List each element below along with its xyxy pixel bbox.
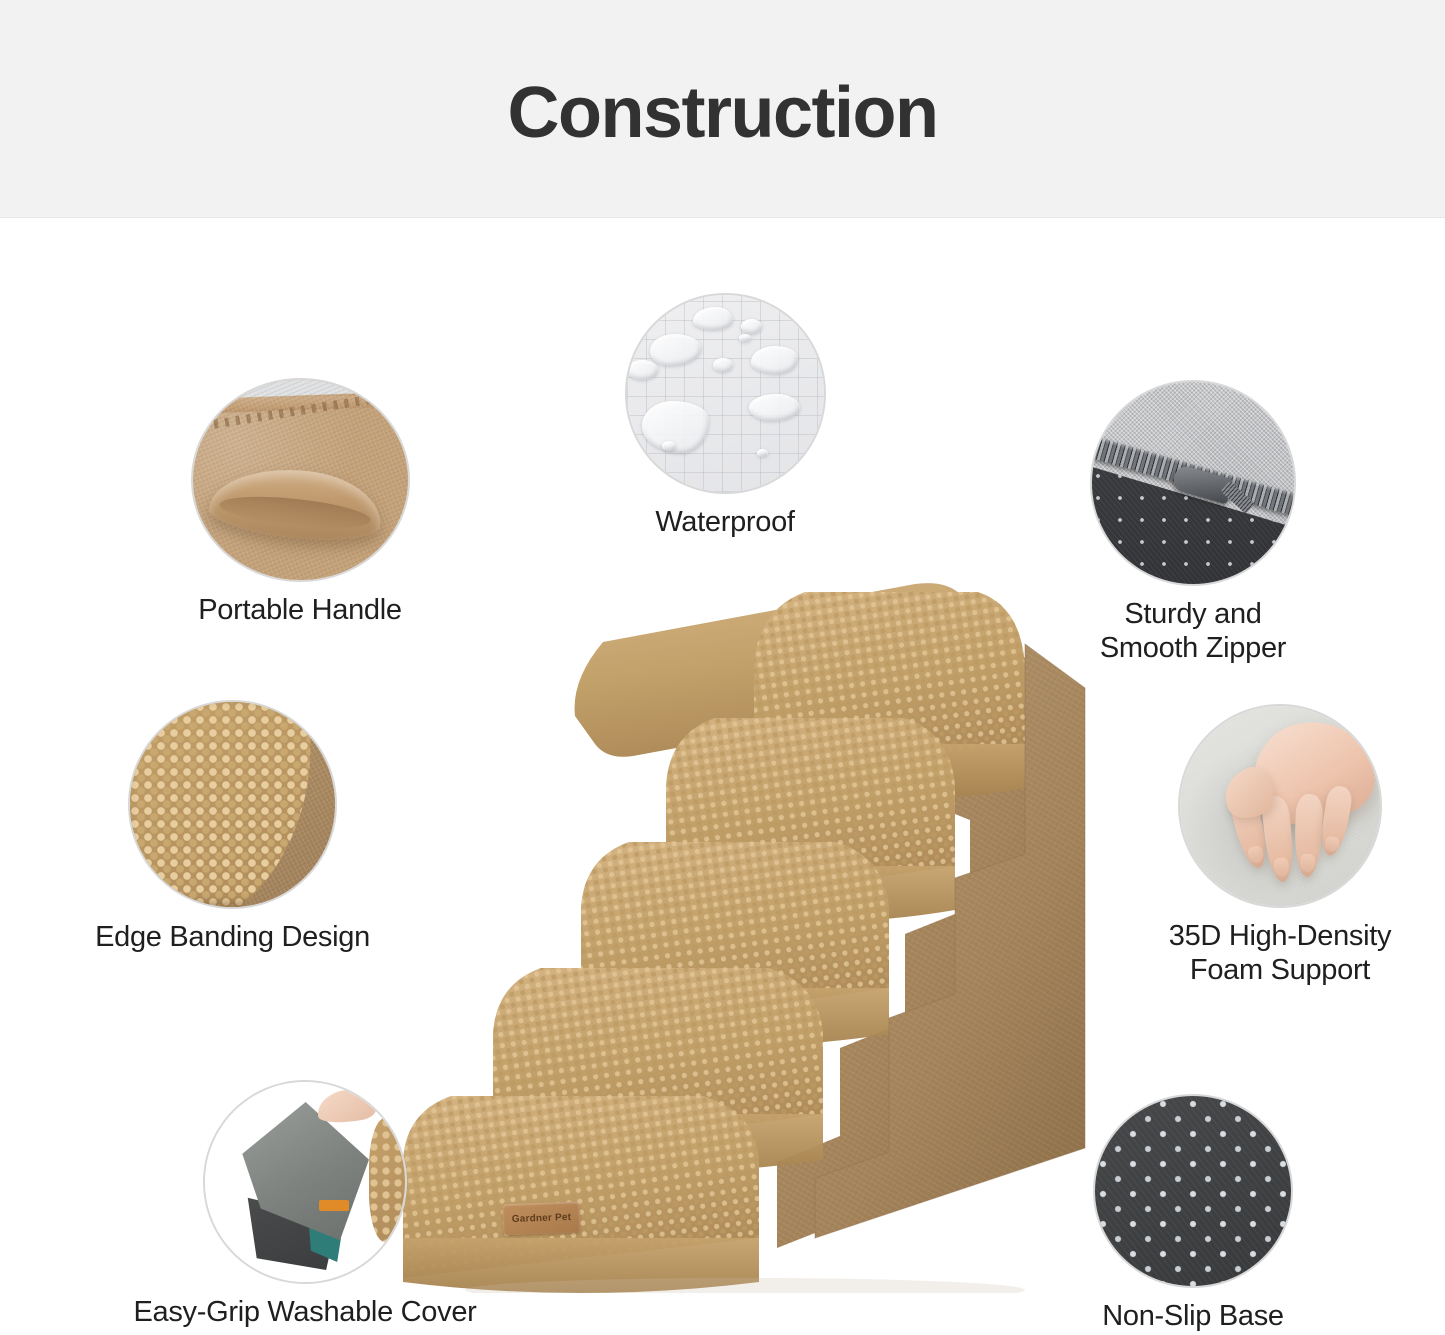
feature-non-slip-base[interactable]: Non-Slip Base (1048, 1096, 1338, 1334)
page-title: Construction (0, 72, 1445, 154)
feature-waterproof[interactable]: Waterproof (590, 295, 860, 540)
hand-on-foam-photo-icon (1180, 706, 1380, 906)
feature-edge-banding[interactable]: Edge Banding Design (75, 702, 390, 955)
handle-photo-icon (193, 380, 408, 580)
infographic-page: Construction (0, 0, 1445, 1335)
feature-washable-cover[interactable]: Easy-Grip Washable Cover (95, 1082, 515, 1330)
removable-cover-photo-icon (205, 1082, 405, 1282)
cover-orange-tag (319, 1200, 349, 1211)
feature-label-washable-cover: Easy-Grip Washable Cover (95, 1296, 515, 1330)
brand-label-text: Gardner Pet (512, 1212, 572, 1225)
feature-label-non-slip-base: Non-Slip Base (1048, 1300, 1338, 1334)
feature-zipper[interactable]: Sturdy and Smooth Zipper (1043, 382, 1343, 666)
zipper-photo-icon (1092, 382, 1294, 584)
feature-label-portable-handle: Portable Handle (155, 594, 445, 628)
non-slip-dots-photo-icon (1095, 1096, 1291, 1286)
feature-portable-handle[interactable]: Portable Handle (155, 380, 445, 628)
hand-illustration (1224, 722, 1372, 882)
edge-banding-photo-icon (130, 702, 335, 907)
header-band: Construction (0, 0, 1445, 218)
water-droplets-photo-icon (627, 295, 824, 492)
feature-foam-support[interactable]: 35D High-Density Foam Support (1130, 706, 1430, 988)
feature-label-edge-banding: Edge Banding Design (75, 921, 390, 955)
feature-label-zipper: Sturdy and Smooth Zipper (1043, 598, 1343, 666)
feature-label-foam-support: 35D High-Density Foam Support (1130, 920, 1430, 988)
feature-label-waterproof: Waterproof (590, 506, 860, 540)
